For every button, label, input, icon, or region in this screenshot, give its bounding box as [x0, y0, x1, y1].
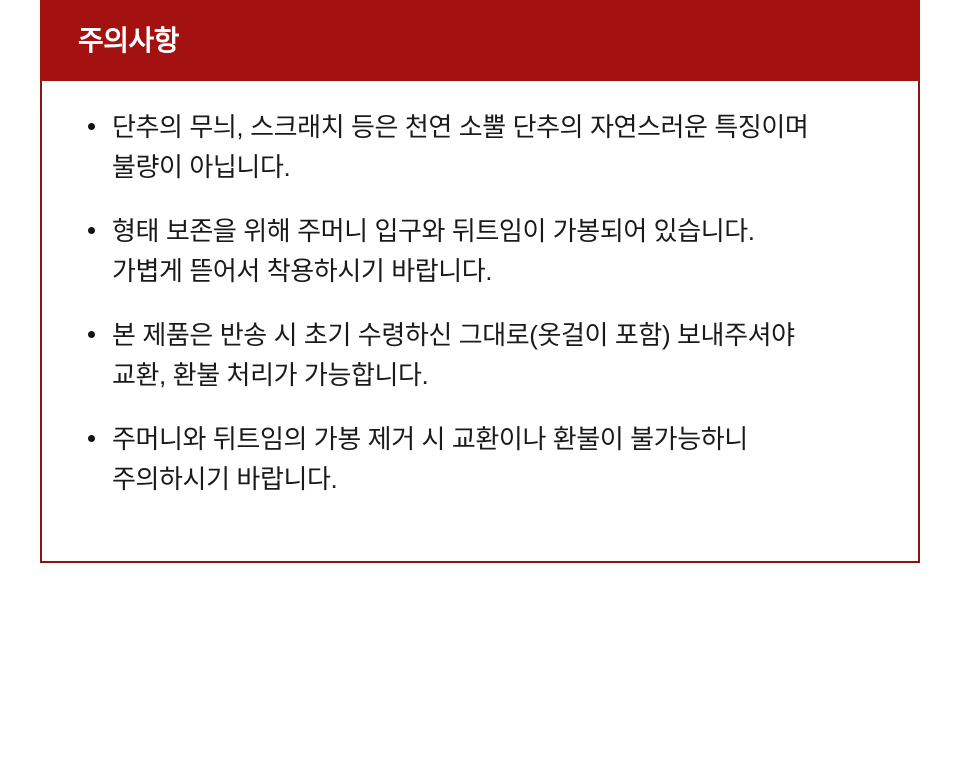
list-item-line-2: 교환, 환불 처리가 가능합니다. — [112, 355, 878, 395]
list-item-line-1: 단추의 무늬, 스크래치 등은 천연 소뿔 단추의 자연스러운 특징이며 — [112, 107, 878, 147]
list-item-line-2: 불량이 아닙니다. — [112, 147, 878, 187]
notice-body: 단추의 무늬, 스크래치 등은 천연 소뿔 단추의 자연스러운 특징이며 불량이… — [40, 81, 920, 563]
list-item: 단추의 무늬, 스크래치 등은 천연 소뿔 단추의 자연스러운 특징이며 불량이… — [86, 107, 878, 187]
bullet-dot-icon — [88, 435, 95, 442]
list-item-line-1: 본 제품은 반송 시 초기 수령하신 그대로(옷걸이 포함) 보내주셔야 — [112, 315, 878, 355]
list-item: 형태 보존을 위해 주머니 입구와 뒤트임이 가봉되어 있습니다. 가볍게 뜯어… — [86, 211, 878, 291]
bullet-dot-icon — [88, 123, 95, 130]
list-item: 주머니와 뒤트임의 가봉 제거 시 교환이나 환불이 불가능하니 주의하시기 바… — [86, 419, 878, 499]
list-item-line-1: 형태 보존을 위해 주머니 입구와 뒤트임이 가봉되어 있습니다. — [112, 211, 878, 251]
notice-header-bar: 주의사항 — [40, 0, 920, 81]
list-item-line-2: 가볍게 뜯어서 착용하시기 바랍니다. — [112, 251, 878, 291]
list-item: 본 제품은 반송 시 초기 수령하신 그대로(옷걸이 포함) 보내주셔야 교환,… — [86, 315, 878, 395]
bullet-dot-icon — [88, 331, 95, 338]
notice-panel: 주의사항 단추의 무늬, 스크래치 등은 천연 소뿔 단추의 자연스러운 특징이… — [40, 0, 920, 563]
bullet-dot-icon — [88, 227, 95, 234]
list-item-line-2: 주의하시기 바랍니다. — [112, 459, 878, 499]
list-item-line-1: 주머니와 뒤트임의 가봉 제거 시 교환이나 환불이 불가능하니 — [112, 419, 878, 459]
page-title: 주의사항 — [78, 27, 179, 55]
notice-bullet-list: 단추의 무늬, 스크래치 등은 천연 소뿔 단추의 자연스러운 특징이며 불량이… — [86, 107, 878, 499]
